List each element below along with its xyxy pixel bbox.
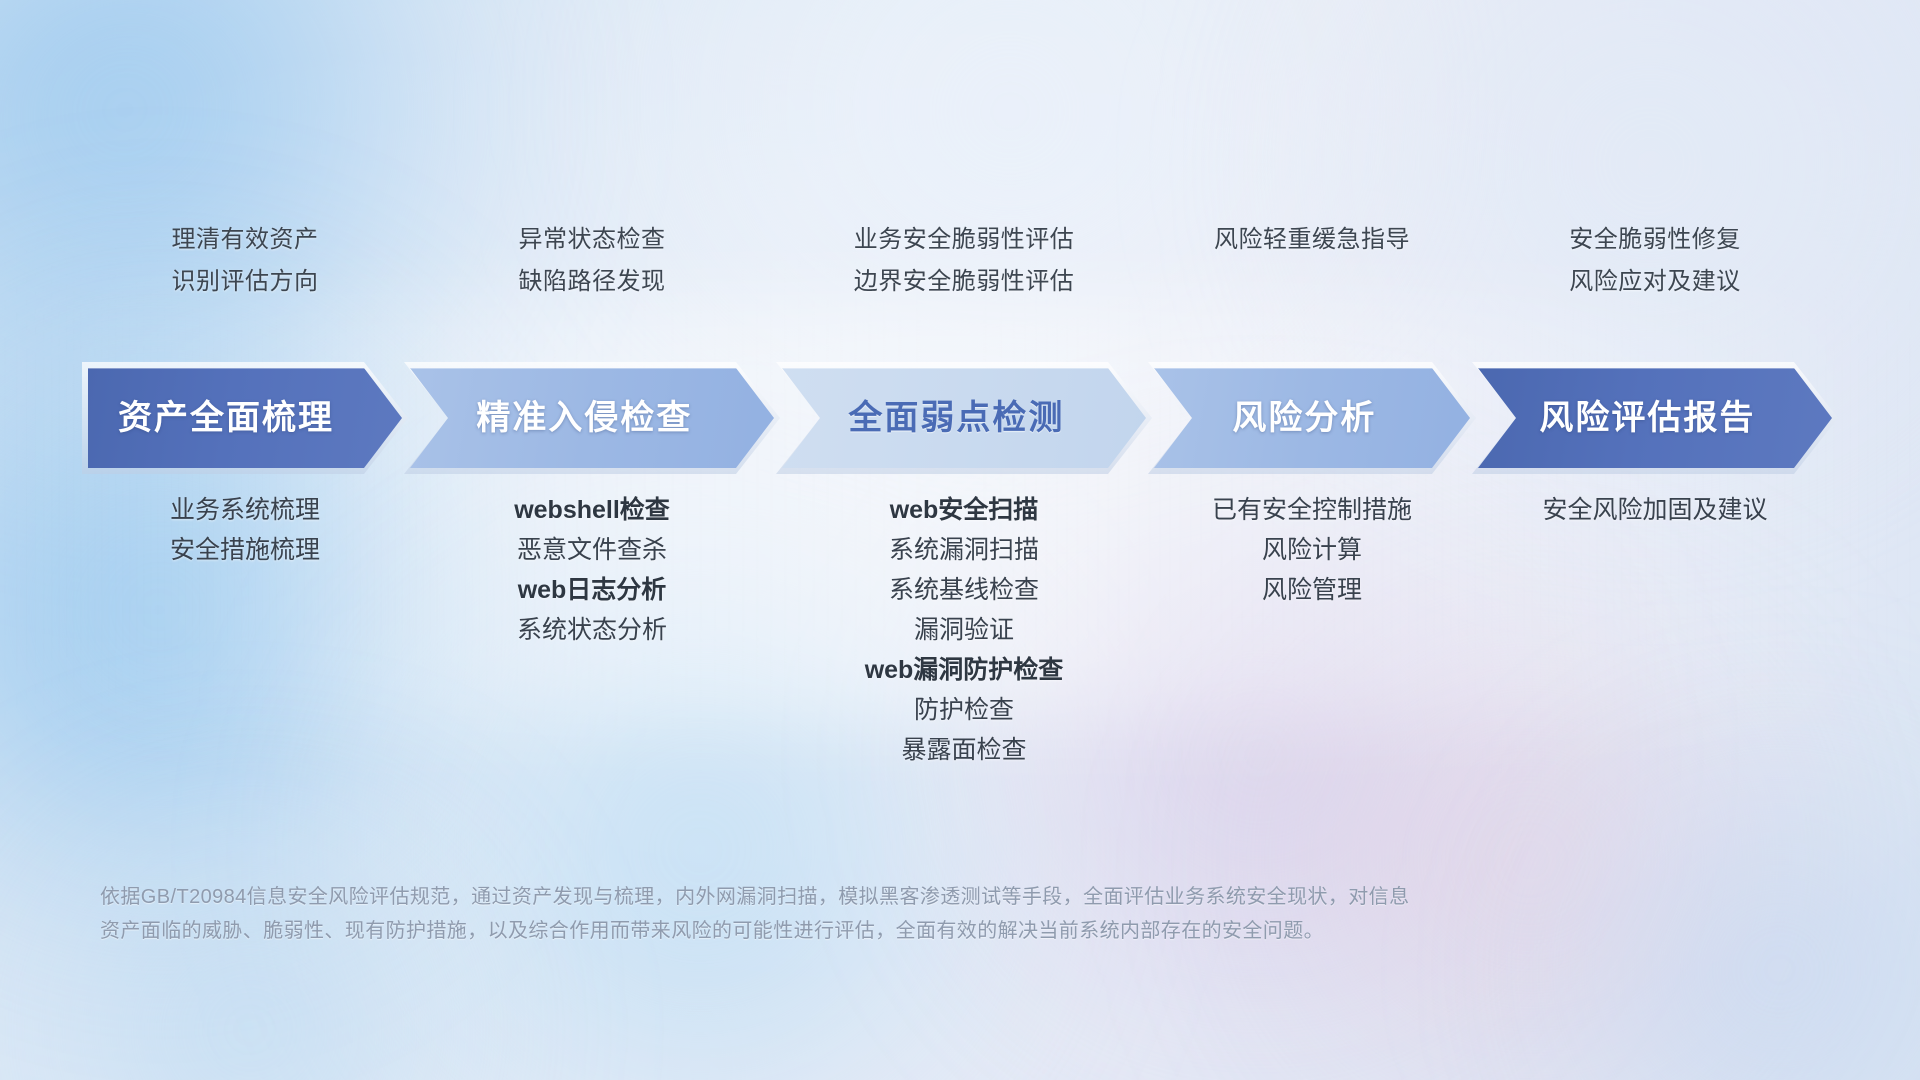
stage-arrow-row: 资产全面梳理精准入侵检查全面弱点检测风险分析风险评估报告 (0, 368, 1920, 468)
stage-arrow-intrusion-check[interactable]: 精准入侵检查 (410, 368, 774, 468)
items-assessment-report: 安全风险加固及建议 (1478, 498, 1832, 523)
list-item: web漏洞防护检查 (865, 658, 1064, 683)
note-list: 安全脆弱性修复风险应对及建议 (1478, 228, 1832, 294)
top-notes-weakness-detection: 业务安全脆弱性评估边界安全脆弱性评估 (782, 228, 1146, 294)
note-list: 理清有效资产识别评估方向 (88, 228, 402, 294)
item-list: web安全扫描系统漏洞扫描系统基线检查漏洞验证web漏洞防护检查防护检查暴露面检… (782, 498, 1146, 763)
stage-title: 风险分析 (1154, 401, 1470, 435)
list-item: 风险管理 (1262, 578, 1362, 603)
list-item: 系统漏洞扫描 (889, 538, 1039, 563)
items-intrusion-check: webshell检查恶意文件查杀web日志分析系统状态分析 (410, 498, 774, 643)
stage-title: 全面弱点检测 (782, 401, 1146, 435)
note-list: 风险轻重缓急指导 (1154, 228, 1470, 252)
top-notes-risk-analysis: 风险轻重缓急指导 (1154, 228, 1470, 252)
list-item: 系统基线检查 (889, 578, 1039, 603)
top-notes-assessment-report: 安全脆弱性修复风险应对及建议 (1478, 228, 1832, 294)
list-item: 恶意文件查杀 (517, 538, 667, 563)
list-item: 安全风险加固及建议 (1542, 498, 1767, 523)
note-item: 缺陷路径发现 (519, 270, 666, 294)
note-item: 业务安全脆弱性评估 (854, 228, 1075, 252)
list-item: 已有安全控制措施 (1212, 498, 1412, 523)
stage-title: 风险评估报告 (1478, 401, 1832, 435)
note-list: 异常状态检查缺陷路径发现 (410, 228, 774, 294)
list-item: 暴露面检查 (901, 738, 1026, 763)
item-list: 业务系统梳理安全措施梳理 (88, 498, 402, 563)
note-item: 边界安全脆弱性评估 (854, 270, 1075, 294)
stage-arrow-weakness-detection[interactable]: 全面弱点检测 (782, 368, 1146, 468)
top-notes-asset-inventory: 理清有效资产识别评估方向 (88, 228, 402, 294)
note-item: 安全脆弱性修复 (1569, 228, 1741, 252)
footer-line-2: 资产面临的威胁、脆弱性、现有防护措施，以及综合作用而带来风险的可能性进行评估，全… (100, 914, 1660, 948)
stage-arrow-asset-inventory[interactable]: 资产全面梳理 (88, 368, 402, 468)
stage-title: 精准入侵检查 (410, 401, 774, 435)
list-item: 系统状态分析 (517, 618, 667, 643)
footer-description: 依据GB/T20984信息安全风险评估规范，通过资产发现与梳理，内外网漏洞扫描，… (100, 880, 1660, 948)
note-item: 异常状态检查 (519, 228, 666, 252)
list-item: 漏洞验证 (914, 618, 1014, 643)
list-item: webshell检查 (514, 498, 670, 523)
list-item: web安全扫描 (890, 498, 1039, 523)
list-item: 防护检查 (914, 698, 1014, 723)
note-list: 业务安全脆弱性评估边界安全脆弱性评估 (782, 228, 1146, 294)
note-item: 理清有效资产 (172, 228, 319, 252)
list-item: 业务系统梳理 (170, 498, 320, 523)
process-diagram: 理清有效资产识别评估方向异常状态检查缺陷路径发现业务安全脆弱性评估边界安全脆弱性… (0, 0, 1920, 1080)
list-item: web日志分析 (518, 578, 667, 603)
stage-arrow-risk-analysis[interactable]: 风险分析 (1154, 368, 1470, 468)
items-risk-analysis: 已有安全控制措施风险计算风险管理 (1154, 498, 1470, 603)
stage-items-row: 业务系统梳理安全措施梳理webshell检查恶意文件查杀web日志分析系统状态分… (0, 498, 1920, 818)
note-item: 风险轻重缓急指导 (1214, 228, 1410, 252)
items-asset-inventory: 业务系统梳理安全措施梳理 (88, 498, 402, 563)
stage-arrow-assessment-report[interactable]: 风险评估报告 (1478, 368, 1832, 468)
stage-title: 资产全面梳理 (88, 401, 402, 435)
items-weakness-detection: web安全扫描系统漏洞扫描系统基线检查漏洞验证web漏洞防护检查防护检查暴露面检… (782, 498, 1146, 763)
list-item: 安全措施梳理 (170, 538, 320, 563)
item-list: 已有安全控制措施风险计算风险管理 (1154, 498, 1470, 603)
note-item: 风险应对及建议 (1569, 270, 1741, 294)
footer-line-1: 依据GB/T20984信息安全风险评估规范，通过资产发现与梳理，内外网漏洞扫描，… (100, 880, 1660, 914)
top-notes-row: 理清有效资产识别评估方向异常状态检查缺陷路径发现业务安全脆弱性评估边界安全脆弱性… (0, 228, 1920, 338)
item-list: webshell检查恶意文件查杀web日志分析系统状态分析 (410, 498, 774, 643)
list-item: 风险计算 (1262, 538, 1362, 563)
item-list: 安全风险加固及建议 (1478, 498, 1832, 523)
top-notes-intrusion-check: 异常状态检查缺陷路径发现 (410, 228, 774, 294)
note-item: 识别评估方向 (172, 270, 319, 294)
